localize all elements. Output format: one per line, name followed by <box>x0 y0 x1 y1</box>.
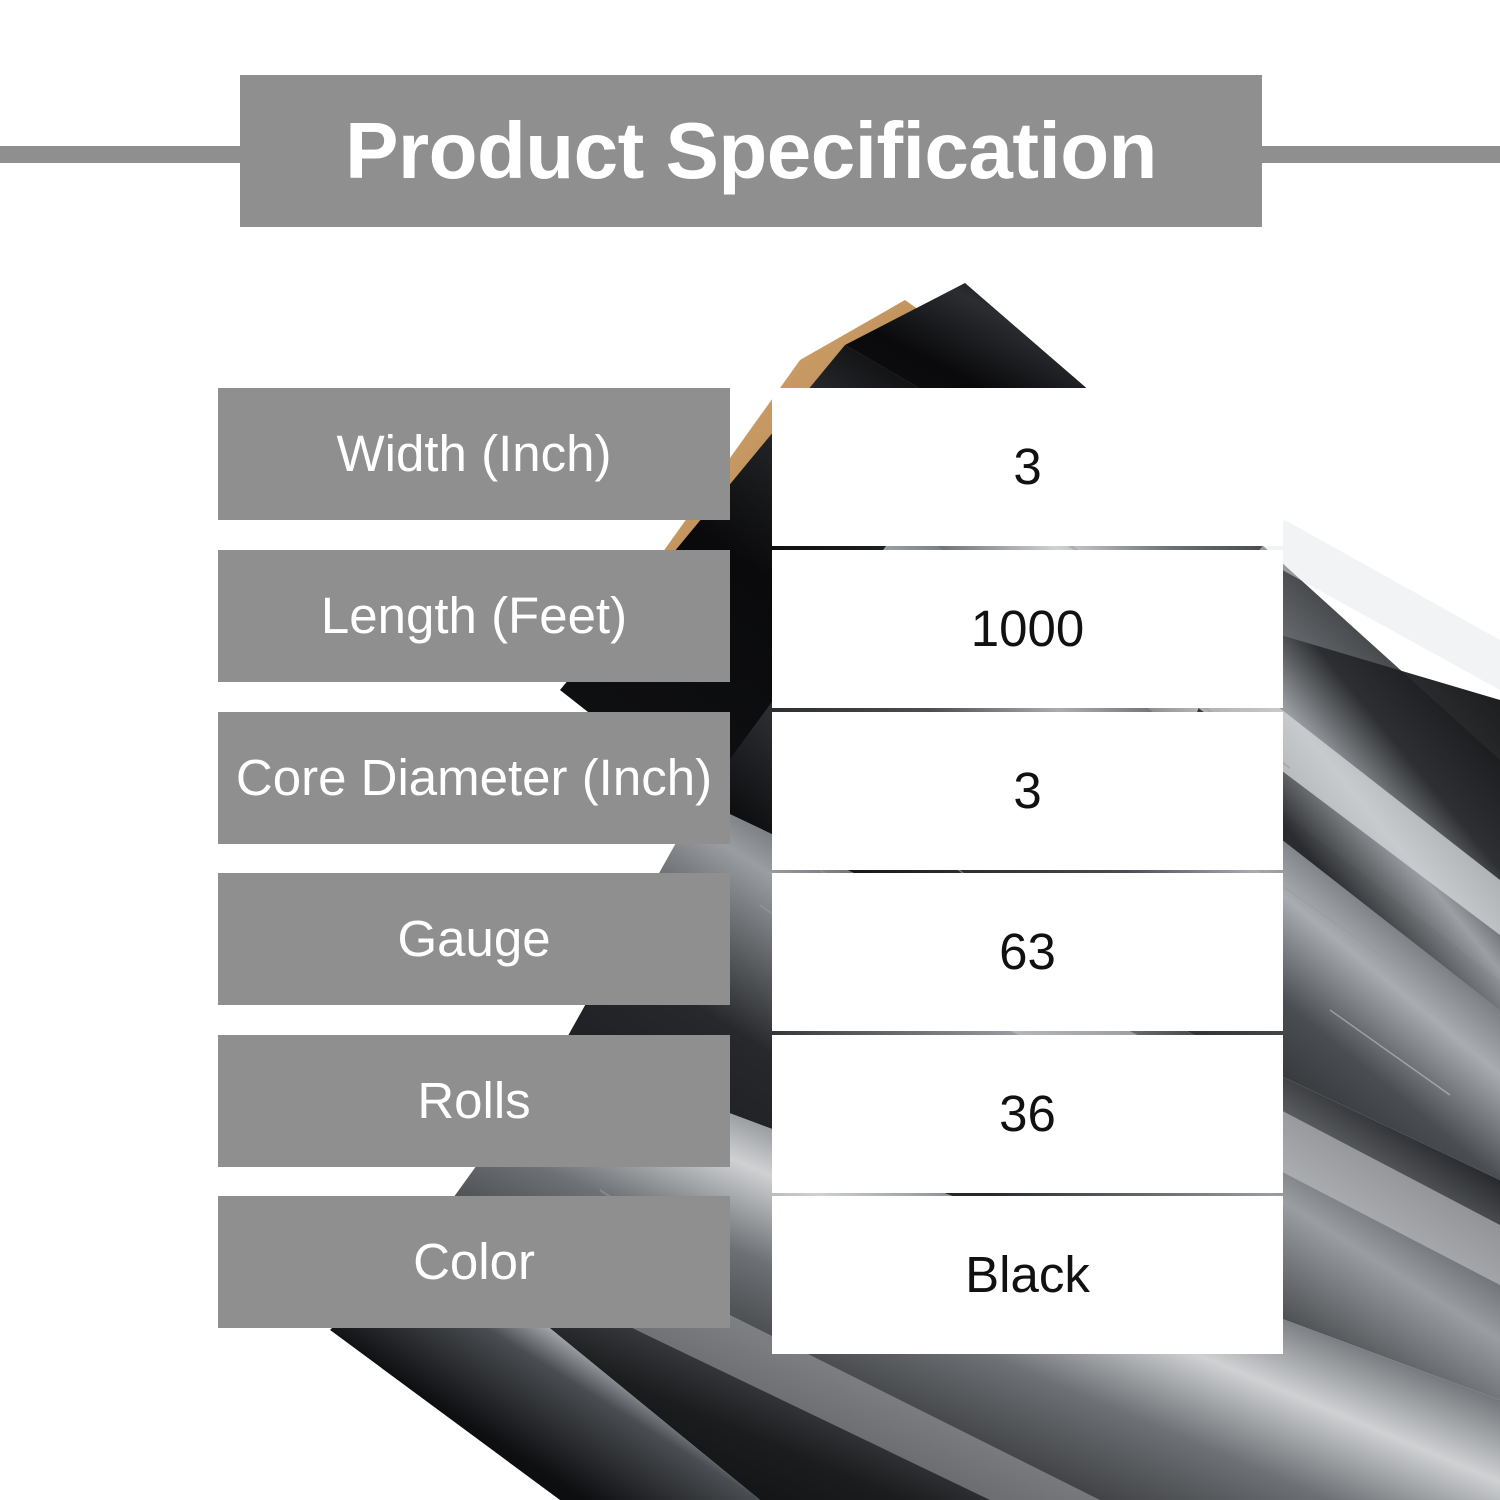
header: Product Specification <box>0 70 1500 235</box>
header-rule-left <box>0 146 252 163</box>
spec-label-core-diameter: Core Diameter (Inch) <box>218 712 730 844</box>
spec-value-gauge: 63 <box>772 873 1283 1031</box>
spec-label-rolls: Rolls <box>218 1035 730 1167</box>
spec-value-color: Black <box>772 1196 1283 1354</box>
spec-label-color: Color <box>218 1196 730 1328</box>
spec-label-width: Width (Inch) <box>218 388 730 520</box>
title-banner: Product Specification <box>240 75 1262 227</box>
header-rule-right <box>1248 146 1500 163</box>
page-title: Product Specification <box>345 111 1157 191</box>
spec-label-length: Length (Feet) <box>218 550 730 682</box>
product-specification-infographic: Product Specification Width (Inch) 3 Len… <box>0 0 1500 1500</box>
spec-value-width: 3 <box>772 388 1283 546</box>
spec-value-length: 1000 <box>772 550 1283 708</box>
spec-value-rolls: 36 <box>772 1035 1283 1193</box>
spec-value-core-diameter: 3 <box>772 712 1283 870</box>
spec-label-gauge: Gauge <box>218 873 730 1005</box>
